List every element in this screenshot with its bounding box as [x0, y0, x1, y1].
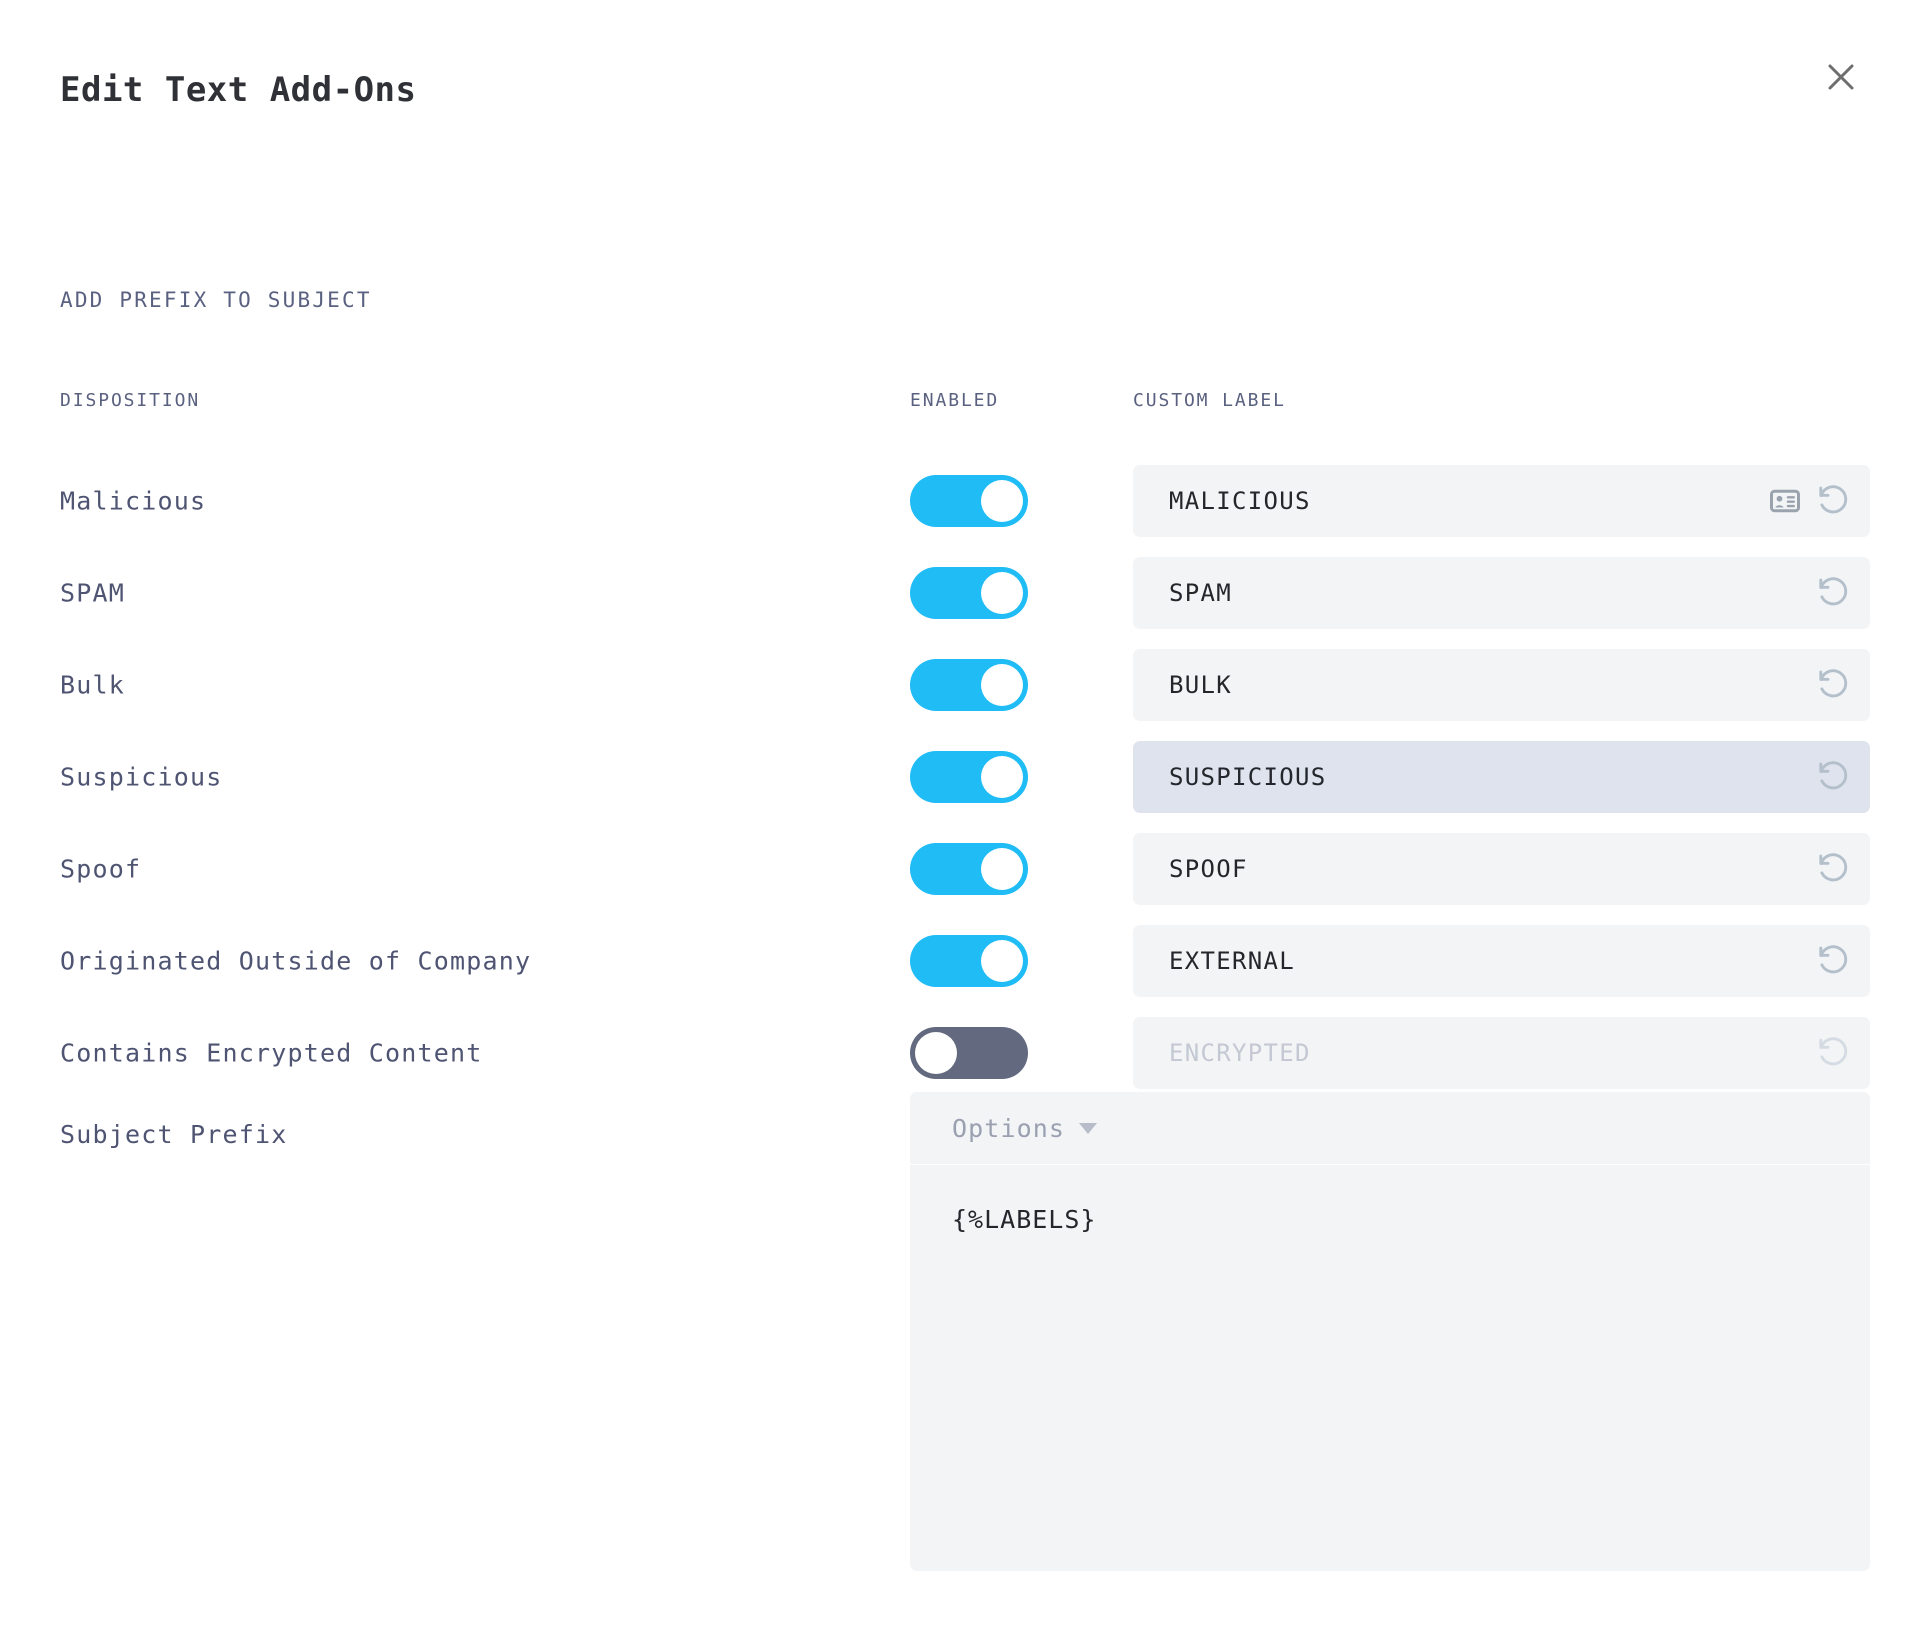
disposition-rows: Malicious MALICIOUS SPAM SPAM Bulk BULK …	[0, 455, 1908, 1099]
row-icons	[1770, 483, 1852, 519]
contact-card-icon[interactable]	[1770, 486, 1800, 516]
reset-icon[interactable]	[1816, 483, 1852, 519]
toggle-knob	[981, 756, 1023, 798]
close-button[interactable]	[1814, 50, 1868, 104]
custom-label-value: SUSPICIOUS	[1169, 763, 1806, 791]
reset-icon[interactable]	[1816, 667, 1852, 703]
reset-icon[interactable]	[1816, 759, 1852, 795]
custom-label-value: ENCRYPTED	[1169, 1039, 1806, 1067]
custom-label-value: SPOOF	[1169, 855, 1806, 883]
close-icon	[1826, 62, 1856, 92]
custom-label-value: EXTERNAL	[1169, 947, 1806, 975]
enabled-toggle[interactable]	[910, 843, 1028, 895]
toggle-knob	[981, 940, 1023, 982]
enabled-toggle[interactable]	[910, 935, 1028, 987]
custom-label-input[interactable]: SPAM	[1133, 557, 1870, 629]
disposition-label: Bulk	[60, 671, 125, 700]
enabled-toggle[interactable]	[910, 1027, 1028, 1079]
table-row: Contains Encrypted Content ENCRYPTED	[0, 1007, 1908, 1099]
subject-prefix-label: Subject Prefix	[60, 1120, 288, 1149]
disposition-label: SPAM	[60, 579, 125, 608]
enabled-toggle[interactable]	[910, 751, 1028, 803]
row-icons	[1816, 575, 1852, 611]
custom-label-input[interactable]: SPOOF	[1133, 833, 1870, 905]
edit-text-addons-dialog: Edit Text Add-Ons ADD PREFIX TO SUBJECT …	[0, 0, 1908, 1650]
enabled-toggle[interactable]	[910, 659, 1028, 711]
enabled-toggle[interactable]	[910, 567, 1028, 619]
reset-icon[interactable]	[1816, 943, 1852, 979]
disposition-label: Originated Outside of Company	[60, 947, 531, 976]
column-headers: DISPOSITION ENABLED CUSTOM LABEL	[0, 390, 1908, 414]
chevron-down-icon	[1079, 1123, 1097, 1134]
row-icons	[1816, 759, 1852, 795]
row-icons	[1816, 851, 1852, 887]
enabled-toggle[interactable]	[910, 475, 1028, 527]
custom-label-value: BULK	[1169, 671, 1806, 699]
table-row: Bulk BULK	[0, 639, 1908, 731]
disposition-label: Malicious	[60, 487, 206, 516]
custom-label-input[interactable]: SUSPICIOUS	[1133, 741, 1870, 813]
custom-label-input[interactable]: MALICIOUS	[1133, 465, 1870, 537]
row-icons	[1816, 1035, 1852, 1071]
table-row: Spoof SPOOF	[0, 823, 1908, 915]
row-icons	[1816, 667, 1852, 703]
toggle-knob	[981, 572, 1023, 614]
toggle-knob	[981, 480, 1023, 522]
options-dropdown[interactable]: Options	[910, 1092, 1870, 1164]
dialog-header: Edit Text Add-Ons	[0, 50, 1908, 120]
disposition-label: Contains Encrypted Content	[60, 1039, 483, 1068]
custom-label-input: ENCRYPTED	[1133, 1017, 1870, 1089]
reset-icon	[1816, 1035, 1852, 1071]
table-row: Suspicious SUSPICIOUS	[0, 731, 1908, 823]
options-dropdown-label: Options	[952, 1114, 1065, 1143]
row-icons	[1816, 943, 1852, 979]
custom-label-input[interactable]: BULK	[1133, 649, 1870, 721]
column-header-disposition: DISPOSITION	[60, 390, 200, 411]
table-row: Originated Outside of Company EXTERNAL	[0, 915, 1908, 1007]
custom-label-input[interactable]: EXTERNAL	[1133, 925, 1870, 997]
disposition-label: Suspicious	[60, 763, 223, 792]
table-row: SPAM SPAM	[0, 547, 1908, 639]
reset-icon[interactable]	[1816, 575, 1852, 611]
custom-label-value: SPAM	[1169, 579, 1806, 607]
column-header-enabled: ENABLED	[910, 390, 999, 411]
subject-prefix-textarea[interactable]	[910, 1165, 1870, 1571]
column-header-custom-label: CUSTOM LABEL	[1133, 390, 1286, 411]
disposition-label: Spoof	[60, 855, 141, 884]
page-title: Edit Text Add-Ons	[60, 70, 417, 110]
section-label: ADD PREFIX TO SUBJECT	[60, 288, 372, 312]
toggle-knob	[981, 664, 1023, 706]
table-row: Malicious MALICIOUS	[0, 455, 1908, 547]
custom-label-value: MALICIOUS	[1169, 487, 1760, 515]
toggle-knob	[915, 1032, 957, 1074]
toggle-knob	[981, 848, 1023, 890]
reset-icon[interactable]	[1816, 851, 1852, 887]
